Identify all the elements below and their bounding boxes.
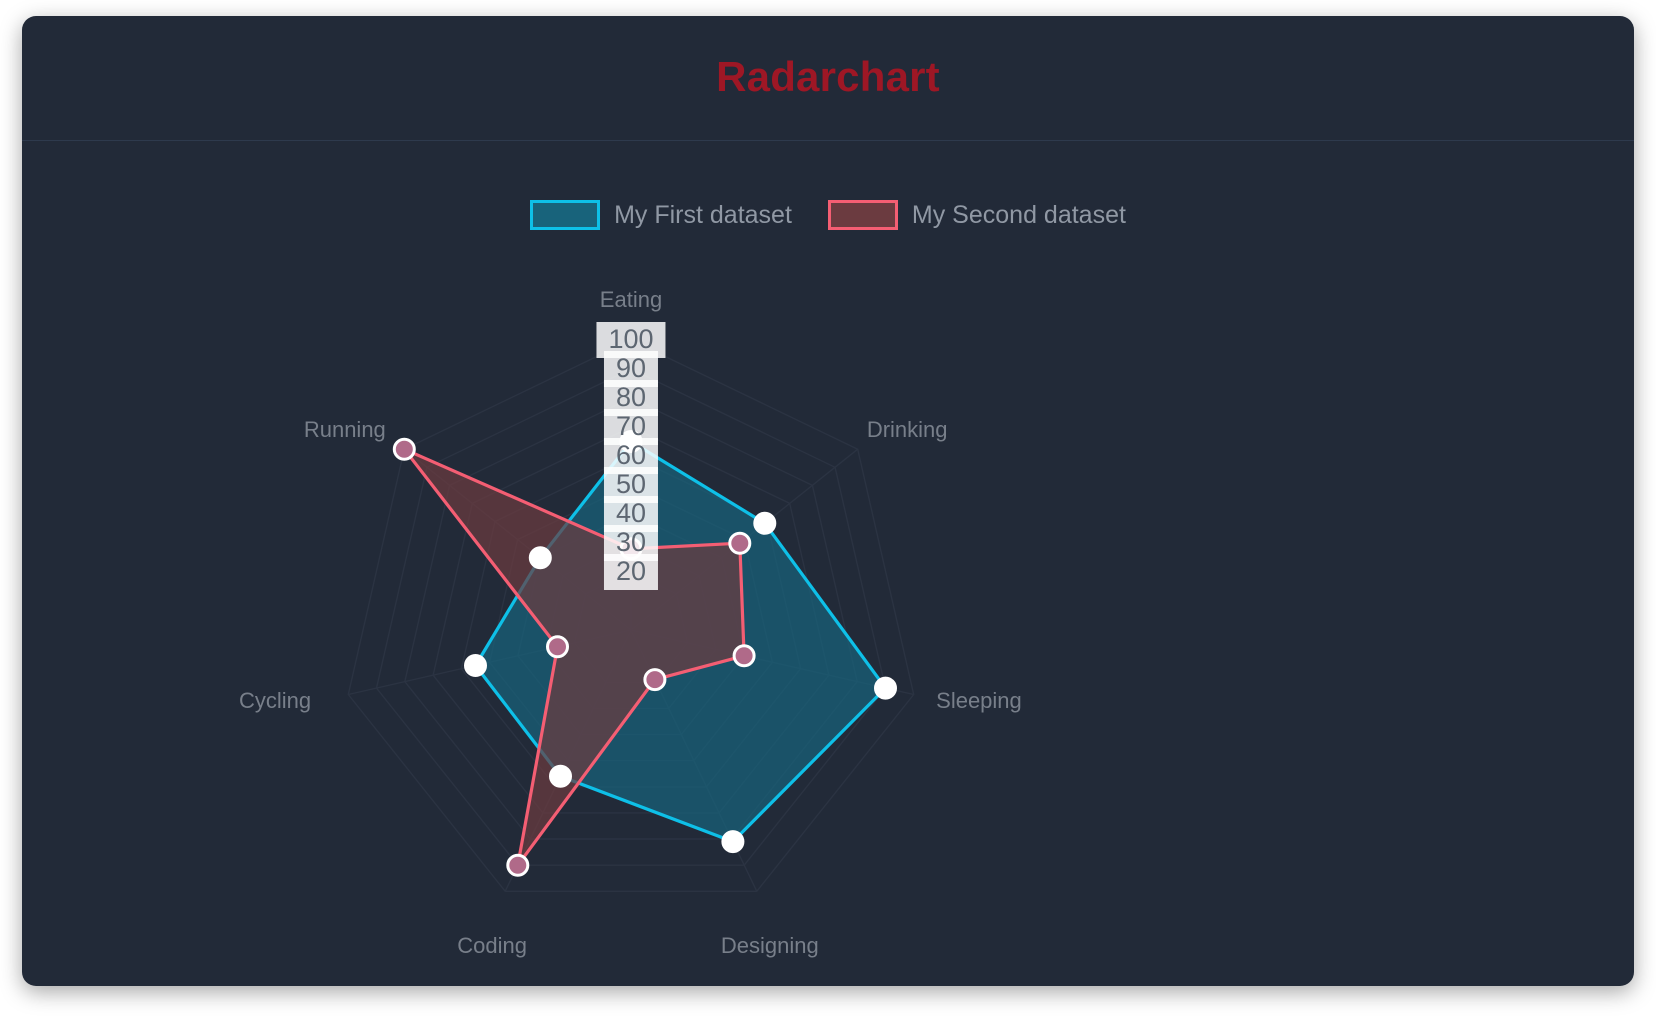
axis-label-cycling: Cycling (239, 688, 311, 714)
page-root: Radarchart My First dataset My Second da… (0, 0, 1656, 1020)
axis-label-drinking: Drinking (867, 417, 948, 443)
axis-label-eating: Eating (600, 287, 662, 313)
radar-chart-svg (22, 16, 1634, 986)
radar-chart-card: Radarchart My First dataset My Second da… (22, 16, 1634, 986)
radial-tick-20: 20 (604, 554, 658, 590)
axis-label-coding: Coding (457, 933, 527, 959)
axis-label-sleeping: Sleeping (936, 688, 1022, 714)
axis-label-designing: Designing (721, 933, 819, 959)
radar-plot-area: 1009080706050403020 EatingDrinkingSleepi… (22, 16, 1634, 986)
axis-label-running: Running (304, 417, 386, 443)
